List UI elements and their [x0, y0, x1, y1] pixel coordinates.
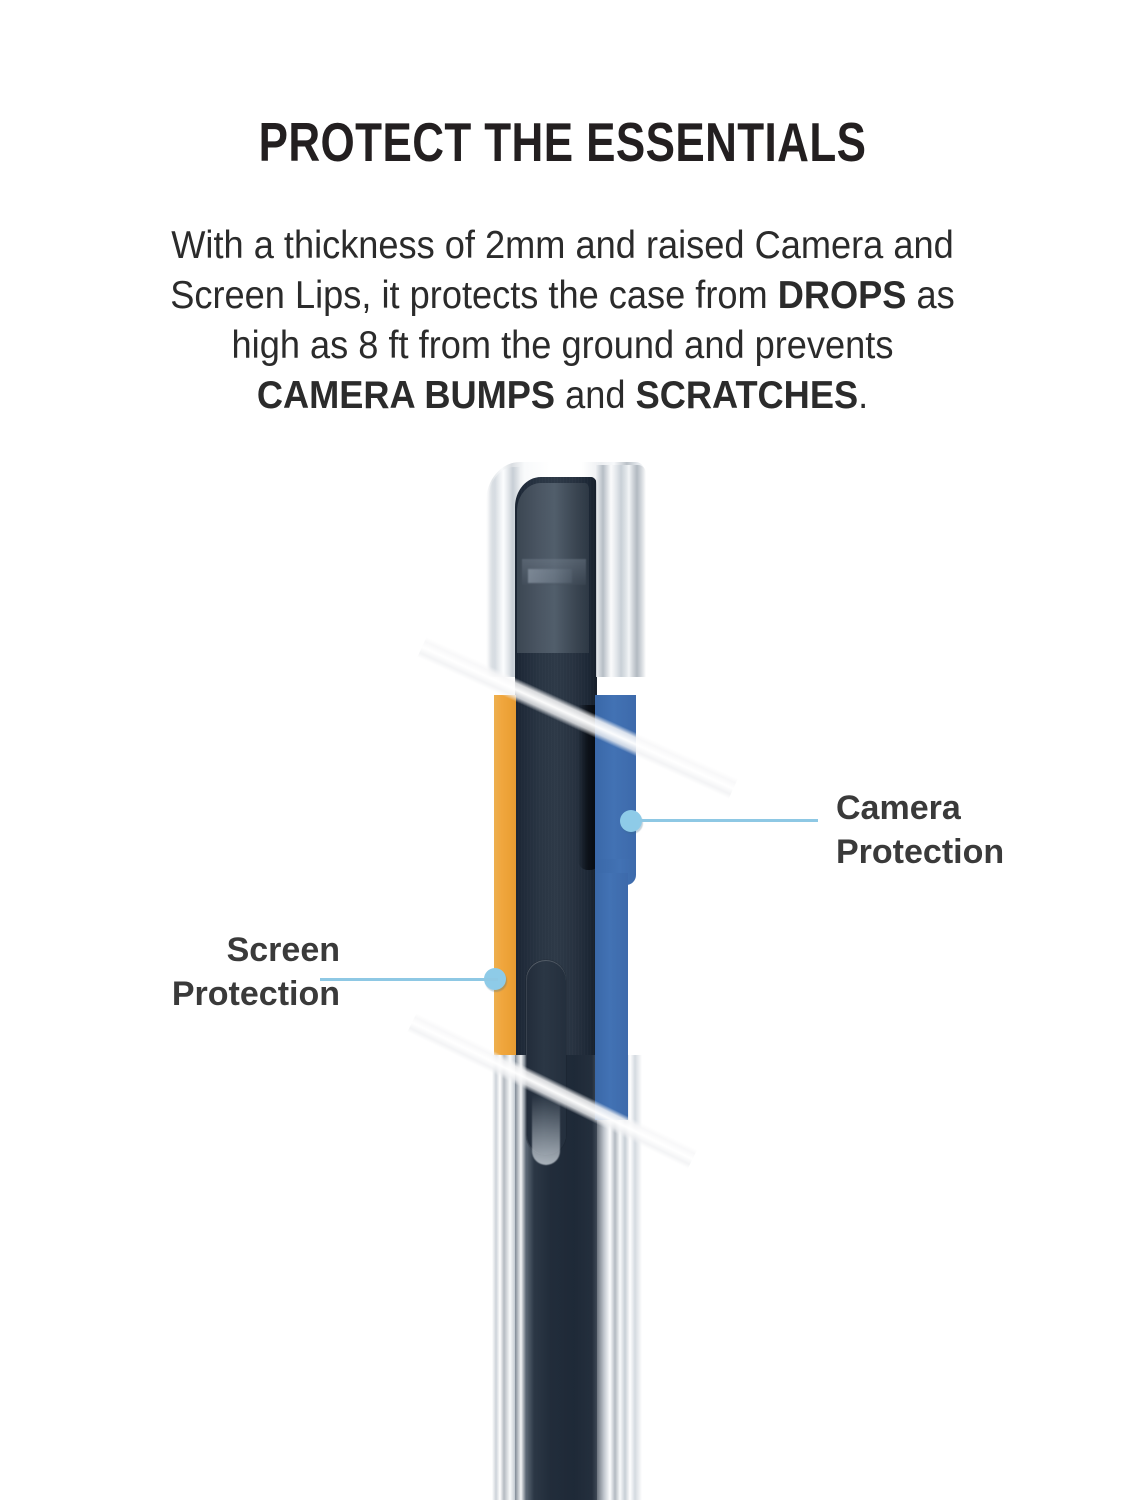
- camera-protection-leader-line: [640, 819, 818, 822]
- emphasis-drops: DROPS: [778, 274, 907, 317]
- camera-lip-highlight-band-lower: [595, 873, 628, 1120]
- camera-lens-hint: [528, 569, 572, 583]
- description-line-2-prefix: Screen Lips, it protects the case from: [170, 274, 777, 317]
- device-side-button-sheen: [532, 1095, 560, 1165]
- description-line-1: With a thickness of 2mm and raised Camer…: [171, 224, 953, 267]
- description-line-4-period: .: [858, 374, 868, 417]
- screen-protection-label: Screen Protection: [108, 928, 340, 1016]
- marketing-feature-panel: PROTECT THE ESSENTIALS With a thickness …: [0, 0, 1125, 1500]
- page-title: PROTECT THE ESSENTIALS: [113, 115, 1013, 170]
- description-line-4-conjunction: and: [555, 374, 636, 417]
- camera-protection-label: Camera Protection: [836, 786, 1056, 874]
- screen-lip-highlight-band: [494, 695, 516, 1055]
- case-right-rail-glass: [596, 465, 646, 677]
- emphasis-scratches: SCRATCHES: [636, 374, 859, 417]
- screen-protection-leader-line: [320, 978, 498, 981]
- camera-lip-highlight-band-upper: [595, 695, 636, 873]
- description-line-3: high as 8 ft from the ground and prevent…: [232, 324, 894, 367]
- feature-description: With a thickness of 2mm and raised Camer…: [139, 221, 986, 421]
- emphasis-camera-bumps: CAMERA BUMPS: [257, 374, 555, 417]
- camera-protection-leader-dot: [620, 810, 642, 832]
- case-lower-clear-body: [488, 1055, 646, 1500]
- description-line-2-suffix: as: [906, 274, 954, 317]
